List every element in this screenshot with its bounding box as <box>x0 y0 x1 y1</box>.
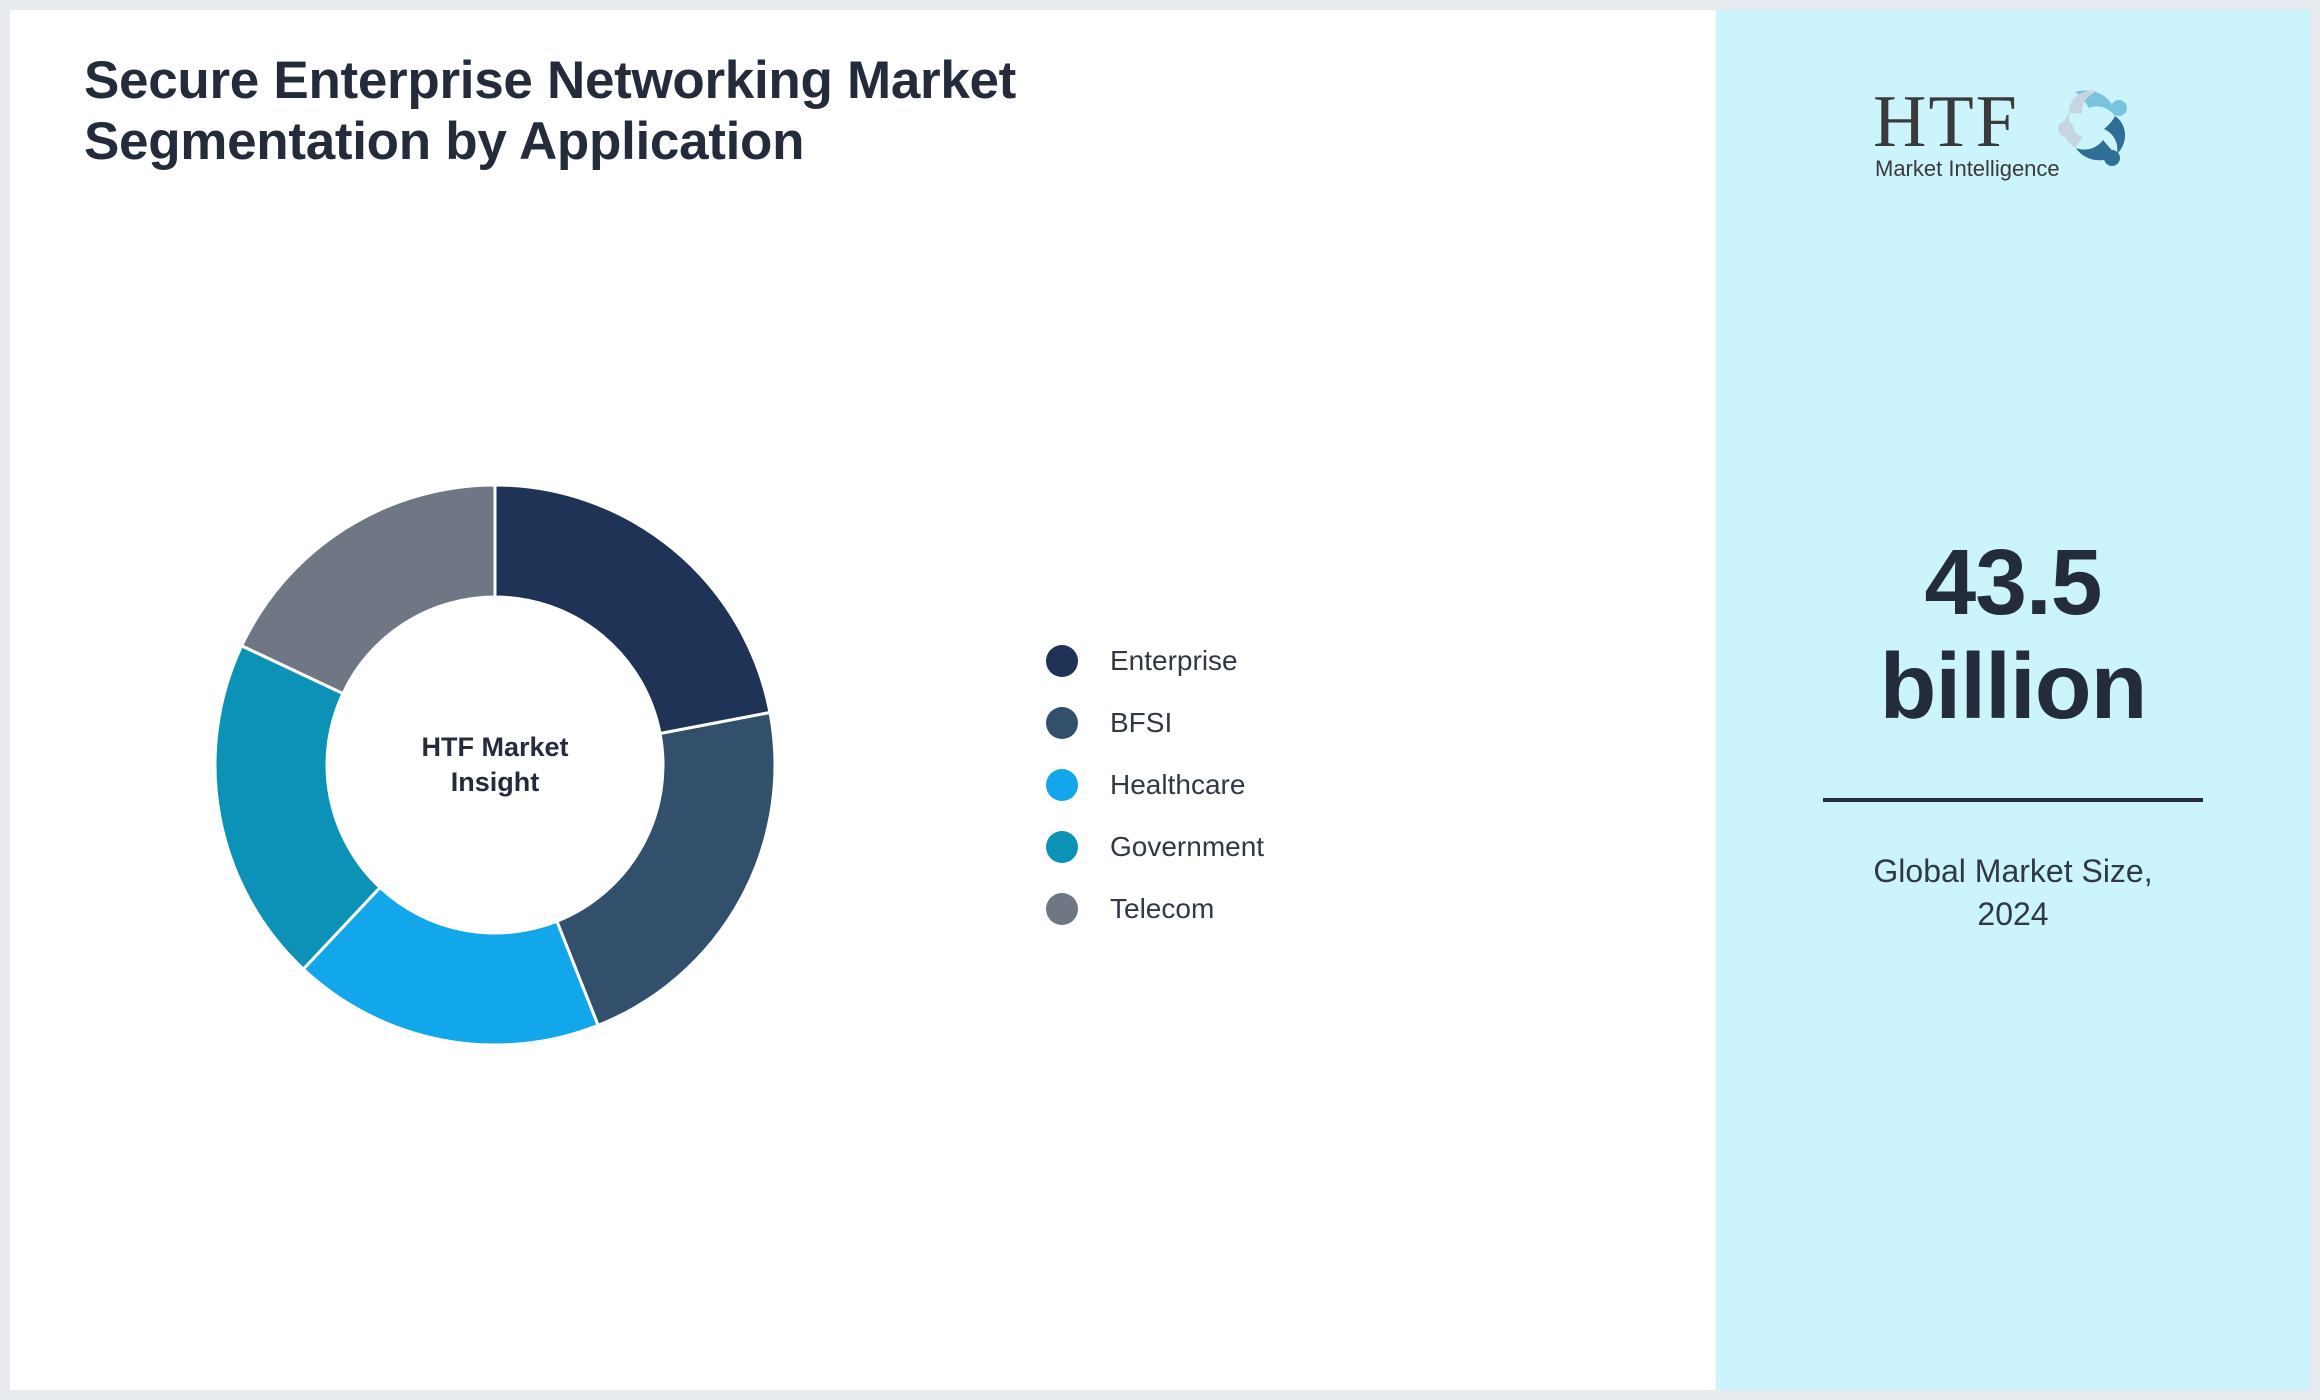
brand-tagline: Market Intelligence <box>1875 156 2060 181</box>
htf-emblem-icon <box>2058 90 2127 166</box>
stat-value-line2: billion <box>1716 634 2310 738</box>
svg-text:HTF: HTF <box>1873 81 2019 163</box>
legend-item-government[interactable]: Government <box>1046 816 1264 878</box>
stat-caption-line2: 2024 <box>1776 893 2250 935</box>
donut-chart-svg <box>215 485 775 1045</box>
legend-item-label: Government <box>1110 831 1264 863</box>
htf-logo-icon: HTF Market Intelligence <box>1863 72 2163 184</box>
stat-caption-line1: Global Market Size, <box>1776 850 2250 892</box>
stat-caption: Global Market Size, 2024 <box>1716 850 2310 934</box>
legend-swatch-icon <box>1046 707 1078 739</box>
legend-item-telecom[interactable]: Telecom <box>1046 878 1264 940</box>
legend-item-healthcare[interactable]: Healthcare <box>1046 754 1264 816</box>
chart-legend: Enterprise BFSI Healthcare Government Te… <box>1046 630 1264 940</box>
stat-value-line1: 43.5 <box>1716 530 2310 634</box>
legend-item-label: Healthcare <box>1110 769 1245 801</box>
donut-slice-enterprise[interactable] <box>495 485 770 734</box>
legend-item-label: Enterprise <box>1110 645 1238 677</box>
page-title: Secure Enterprise Networking Market Segm… <box>84 50 1034 173</box>
legend-item-bfsi[interactable]: BFSI <box>1046 692 1264 754</box>
donut-slice-group <box>215 485 775 1045</box>
left-panel: Secure Enterprise Networking Market Segm… <box>10 10 1716 1390</box>
right-panel: HTF Market Intelligence 43.5 <box>1716 10 2310 1390</box>
donut-slice-telecom[interactable] <box>242 485 495 693</box>
legend-swatch-icon <box>1046 645 1078 677</box>
brand-logo: HTF Market Intelligence <box>1716 72 2310 184</box>
stat-value: 43.5 billion <box>1716 530 2310 738</box>
legend-swatch-icon <box>1046 893 1078 925</box>
legend-item-label: BFSI <box>1110 707 1172 739</box>
stat-block: 43.5 billion Global Market Size, 2024 <box>1716 530 2310 935</box>
stat-divider <box>1823 798 2203 802</box>
legend-item-enterprise[interactable]: Enterprise <box>1046 630 1264 692</box>
donut-slice-bfsi[interactable] <box>557 713 775 1026</box>
infographic-card: Secure Enterprise Networking Market Segm… <box>10 10 2310 1390</box>
donut-chart: HTF Market Insight <box>215 485 775 1045</box>
legend-swatch-icon <box>1046 769 1078 801</box>
legend-swatch-icon <box>1046 831 1078 863</box>
legend-item-label: Telecom <box>1110 893 1214 925</box>
